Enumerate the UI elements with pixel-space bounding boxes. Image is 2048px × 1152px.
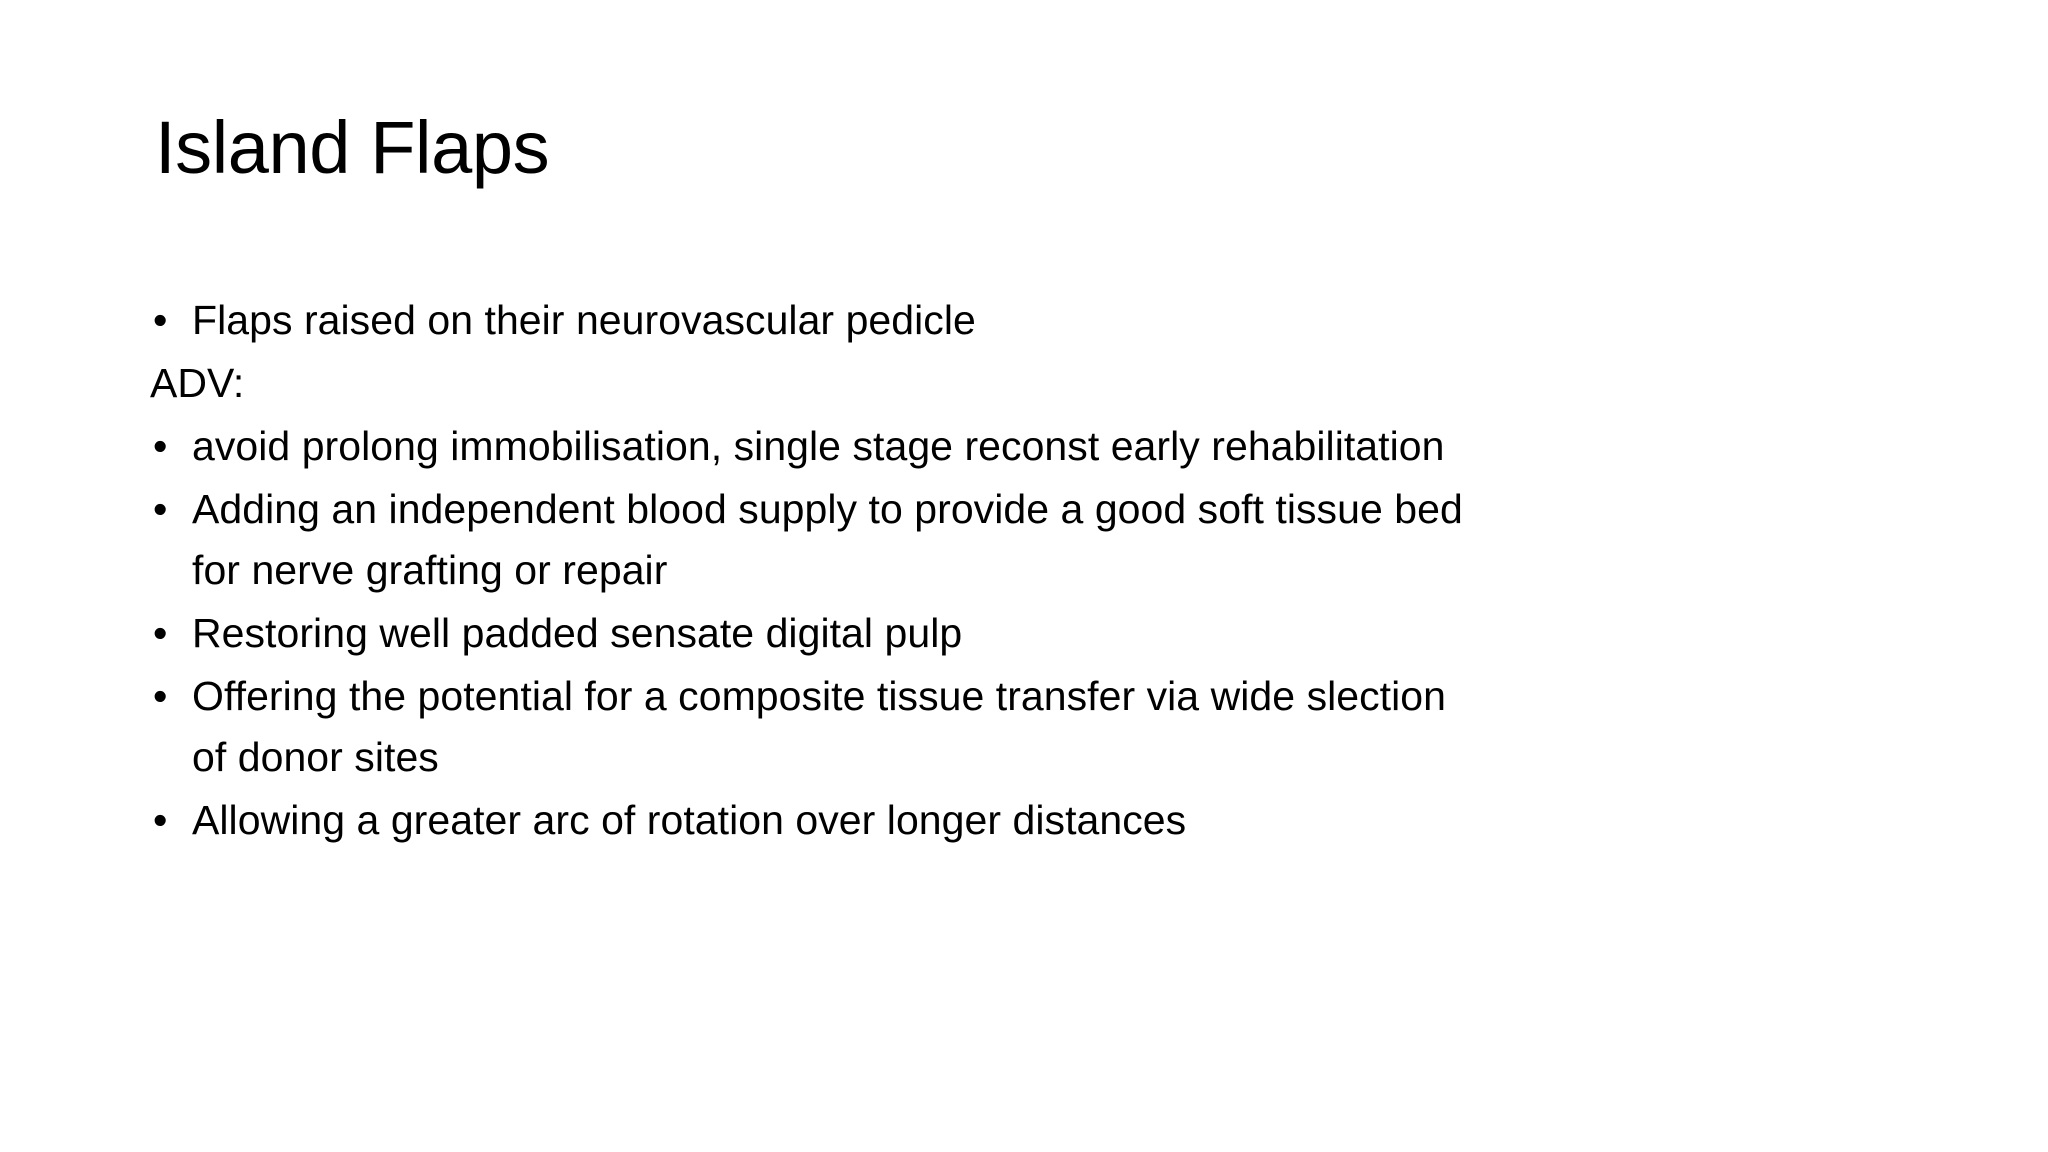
bullet-item-adding-blood-supply: • Adding an independent blood supply to …: [150, 489, 1940, 591]
bullet-item-restoring-pulp: • Restoring well padded sensate digital …: [150, 613, 1940, 654]
bullet-item-allowing-arc: • Allowing a greater arc of rotation ove…: [150, 800, 1940, 841]
bullet-icon: •: [153, 613, 167, 654]
bullet-item-avoid-prolong: • avoid prolong immobilisation, single s…: [150, 426, 1940, 467]
presentation-slide: Island Flaps • Flaps raised on their neu…: [0, 0, 2048, 1152]
bullet-text: Adding an independent blood supply to pr…: [192, 489, 1940, 530]
bullet-icon: •: [153, 800, 167, 841]
body-line-adv-heading: ADV:: [150, 363, 1940, 404]
bullet-text: Allowing a greater arc of rotation over …: [192, 800, 1940, 841]
bullet-text-continuation: of donor sites: [192, 737, 1940, 778]
bullet-item-flaps-raised: • Flaps raised on their neurovascular pe…: [150, 300, 1940, 341]
bullet-text: Restoring well padded sensate digital pu…: [192, 613, 1940, 654]
bullet-icon: •: [153, 300, 167, 341]
page-title: Island Flaps: [155, 108, 1915, 188]
bullet-text: avoid prolong immobilisation, single sta…: [192, 426, 1940, 467]
bullet-text: Flaps raised on their neurovascular pedi…: [192, 300, 1940, 341]
bullet-icon: •: [153, 489, 167, 530]
slide-body-content: • Flaps raised on their neurovascular pe…: [150, 300, 1940, 863]
bullet-text: Offering the potential for a composite t…: [192, 676, 1940, 717]
bullet-text-continuation: for nerve grafting or repair: [192, 550, 1940, 591]
bullet-icon: •: [153, 676, 167, 717]
bullet-item-offering-composite: • Offering the potential for a composite…: [150, 676, 1940, 778]
adv-label: ADV:: [150, 363, 1940, 404]
bullet-icon: •: [153, 426, 167, 467]
